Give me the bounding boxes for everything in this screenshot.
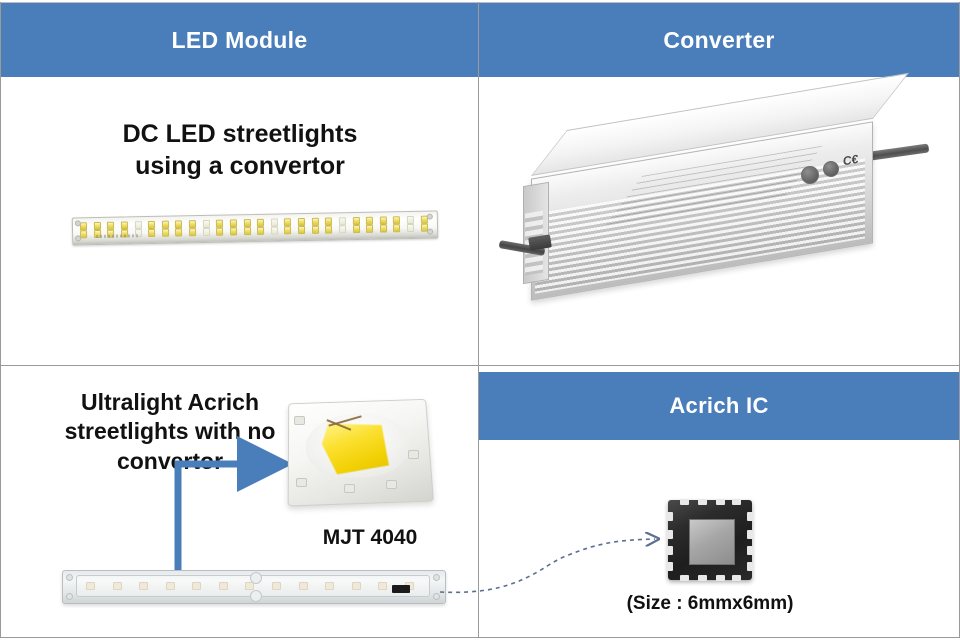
acrich-bar-led (219, 582, 228, 590)
acrich-bar-screw-hole (66, 574, 73, 581)
led-chip (366, 217, 373, 225)
led-chip (175, 228, 182, 236)
acrich-bar-led (378, 582, 387, 590)
acrich-bar-mount-hole (250, 590, 262, 602)
mjt-solder-pad (344, 484, 355, 493)
table-border-left (0, 2, 1, 638)
caption-ultralight-acrich: Ultralight Acrich streetlights with no c… (30, 388, 310, 476)
header-converter: Converter (479, 3, 959, 77)
led-chip (407, 224, 414, 232)
led-chip (380, 224, 387, 232)
led-chip (407, 216, 414, 224)
caption-dc-led-streetlights: DC LED streetlights using a convertor (60, 118, 420, 182)
chip-pin (716, 499, 725, 505)
acrich-bar-led (299, 582, 308, 590)
mjt-4040-led-package-photo (282, 390, 434, 510)
chip-pin (747, 512, 753, 521)
chip-pin (680, 499, 689, 505)
led-strip-screw-hole (75, 235, 81, 241)
mjt-solder-pad (296, 478, 307, 487)
chip-pin (698, 499, 707, 505)
led-chip (298, 226, 305, 234)
chip-pin (667, 562, 673, 571)
caption-dc-led-line-2: using a convertor (60, 150, 420, 182)
comparison-diagram: LED Module Converter Acrich IC DC LED st… (0, 0, 960, 640)
mjt-solder-pad (386, 480, 397, 489)
led-chip (121, 221, 128, 229)
led-chip (393, 216, 400, 224)
chip-pin (732, 575, 741, 581)
chip-pin (667, 512, 673, 521)
led-chip (216, 228, 223, 236)
acrich-bar-screw-hole (433, 574, 440, 581)
chip-pin (732, 499, 741, 505)
chip-pin (667, 546, 673, 555)
driver-vent-plug (801, 166, 819, 184)
driver-vent-plug (823, 161, 839, 177)
led-chip (162, 229, 169, 237)
caption-ultralight-line-2: streetlights with no (30, 417, 310, 446)
led-chip (230, 219, 237, 227)
mjt-solder-pad (294, 416, 305, 425)
led-chip (134, 221, 141, 229)
led-chip (148, 229, 155, 237)
acrich-bar-mount-hole (250, 572, 262, 584)
led-chip (80, 222, 87, 230)
led-chip (271, 219, 278, 227)
chip-pin (747, 562, 753, 571)
led-strip-screw-hole (427, 229, 433, 235)
led-chip (339, 225, 346, 233)
table-divider-vertical (478, 2, 479, 638)
chip-pin (747, 530, 753, 539)
led-chip (230, 227, 237, 235)
led-chip (243, 219, 250, 227)
led-chip (284, 218, 291, 226)
led-strip-screw-hole (427, 214, 433, 220)
acrich-bar-screw-hole (66, 593, 73, 600)
mjt-solder-pad (408, 450, 419, 459)
acrich-bar-led (113, 582, 122, 590)
caption-ultralight-line-3: convertor (30, 447, 310, 476)
led-strip-photo (72, 211, 436, 244)
led-chip (298, 218, 305, 226)
acrich-bar-led (352, 582, 361, 590)
led-chip (271, 227, 278, 235)
driver-ce-mark: C€ (843, 152, 858, 168)
acrich-bar-led (166, 582, 175, 590)
header-led-module-label: LED Module (172, 27, 308, 54)
led-driver-photo: C€ (505, 128, 925, 338)
led-chip (380, 216, 387, 224)
chip-pin (698, 575, 707, 581)
led-chip (339, 217, 346, 225)
acrich-bar-led-row (86, 582, 414, 590)
chip-pin (680, 575, 689, 581)
chip-center-pad (689, 519, 735, 565)
led-chip (366, 225, 373, 233)
led-chip (189, 228, 196, 236)
header-acrich-ic-label: Acrich IC (669, 393, 768, 419)
led-chip (107, 222, 114, 230)
led-chip (312, 226, 319, 234)
table-border-bottom (0, 637, 960, 638)
caption-ultralight-line-1: Ultralight Acrich (30, 388, 310, 417)
acrich-bar-led (192, 582, 201, 590)
chip-pin (667, 530, 673, 539)
led-chip (244, 227, 251, 235)
caption-chip-size: (Size : 6mmx6mm) (600, 592, 820, 616)
led-chip (175, 220, 182, 228)
led-chip (162, 221, 169, 229)
acrich-bar-screw-hole (433, 593, 440, 600)
acrich-bar-led (86, 582, 95, 590)
led-chip (325, 217, 332, 225)
led-chip (216, 220, 223, 228)
led-strip-screw-hole (75, 220, 81, 226)
led-chip (257, 219, 264, 227)
acrich-bar-ic-chip (392, 585, 410, 593)
led-chip (284, 226, 291, 234)
header-led-module: LED Module (1, 3, 478, 77)
acrich-ic-qfn-chip-photo (668, 500, 752, 580)
led-chip (203, 228, 210, 236)
led-chip (393, 224, 400, 232)
caption-mjt-4040: MJT 4040 (285, 525, 455, 552)
acrich-led-bar-photo (62, 570, 444, 602)
led-chip (189, 220, 196, 228)
header-acrich-ic: Acrich IC (479, 372, 959, 440)
led-chip (352, 217, 359, 225)
table-divider-horizontal (0, 365, 960, 366)
acrich-bar-led (272, 582, 281, 590)
led-chip (311, 218, 318, 226)
led-chip (94, 222, 101, 230)
acrich-bar-led (139, 582, 148, 590)
led-chip (202, 220, 209, 228)
chip-pin (747, 546, 753, 555)
acrich-bar-led (325, 582, 334, 590)
chip-pin (716, 575, 725, 581)
caption-dc-led-line-1: DC LED streetlights (60, 118, 420, 150)
led-chip (352, 225, 359, 233)
led-chip (325, 225, 332, 233)
led-chip (257, 227, 264, 235)
header-converter-label: Converter (663, 27, 774, 54)
led-chip (148, 221, 155, 229)
